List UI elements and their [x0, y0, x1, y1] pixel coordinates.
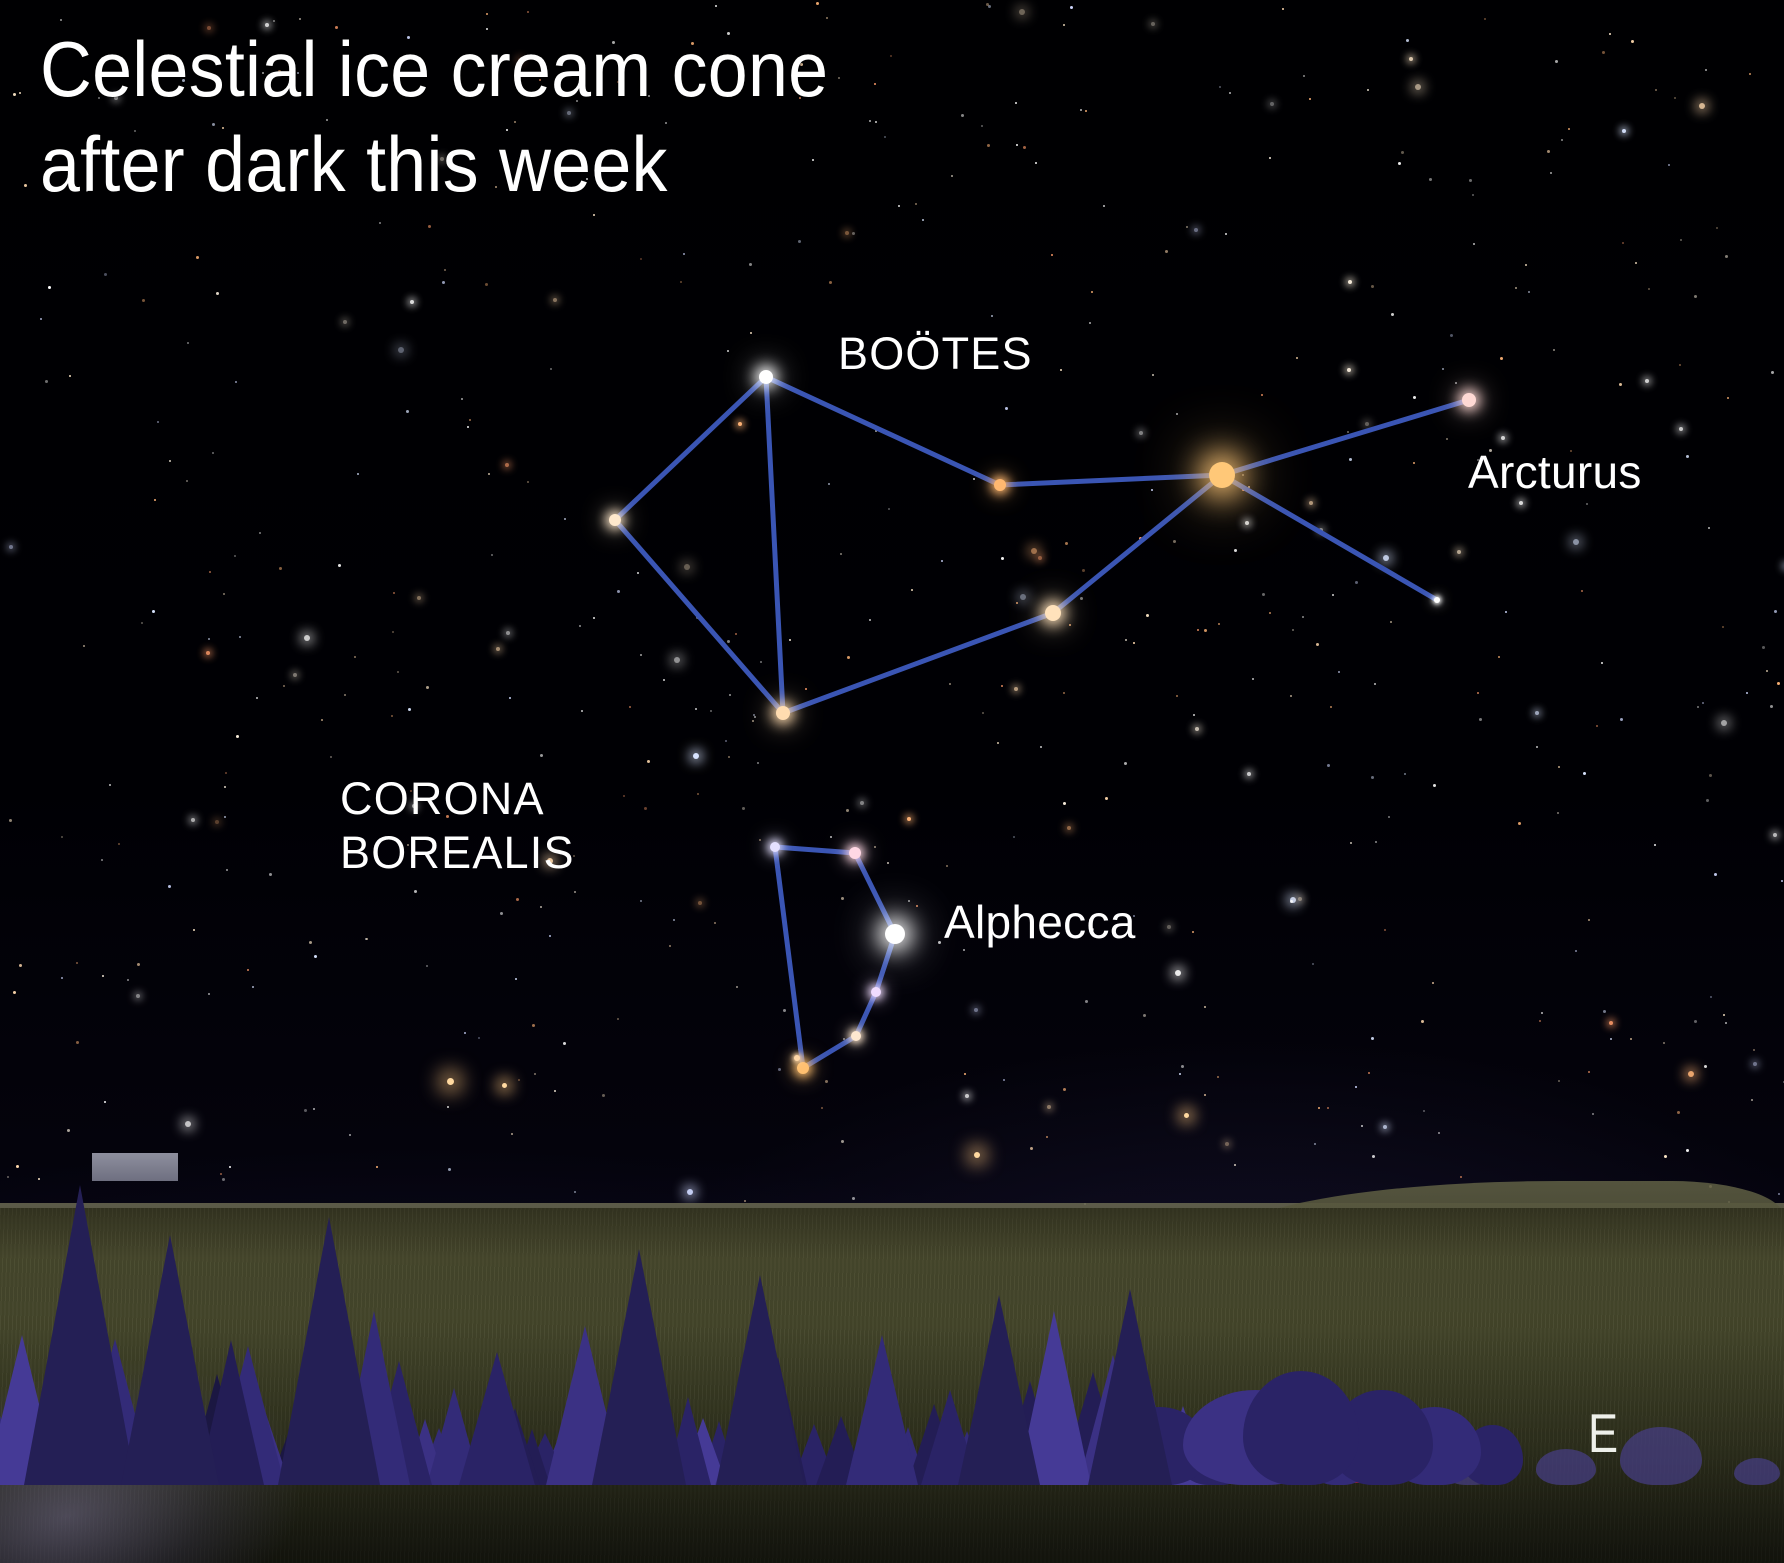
- conifer-tree: [1088, 1289, 1172, 1485]
- conifer-tree: [278, 1217, 380, 1485]
- landscape: [0, 1123, 1784, 1563]
- compass-label-east: E: [1588, 1404, 1619, 1463]
- page-title: Celestial ice cream coneafter dark this …: [40, 22, 828, 212]
- constellation-line: [775, 847, 855, 853]
- constellation-line: [855, 853, 895, 934]
- barn-annex-building: [92, 1153, 178, 1181]
- deciduous-tree: [1734, 1458, 1780, 1485]
- star-label-arcturus: Arcturus: [1468, 448, 1642, 498]
- constellation-line: [783, 613, 1053, 713]
- star-chart-image: BOÖTESArcturusCORONABOREALISAlphecca Cel…: [0, 0, 1784, 1563]
- title-line-2: after dark this week: [40, 120, 668, 208]
- conifer-tree: [24, 1185, 136, 1485]
- constellation-line: [615, 520, 783, 713]
- conifer-tree: [121, 1235, 219, 1485]
- constellation-line: [876, 934, 895, 992]
- farm-light: [447, 1078, 454, 1085]
- conifer-tree: [459, 1352, 535, 1485]
- constellation-line: [775, 847, 803, 1068]
- farm-light: [974, 1152, 980, 1158]
- farm-light: [502, 1083, 507, 1088]
- constellation-line: [1053, 475, 1222, 613]
- constellation-label-corona-borealis-line1: CORONA: [340, 775, 545, 824]
- constellation-line: [803, 1036, 856, 1068]
- constellation-line: [766, 377, 1000, 485]
- conifer-tree: [846, 1335, 918, 1485]
- deciduous-tree: [1536, 1449, 1596, 1485]
- constellation-line: [1222, 475, 1437, 600]
- deciduous-tree: [1620, 1427, 1701, 1485]
- constellation-line: [1222, 400, 1469, 475]
- constellation-label-corona-borealis-line2: BOREALIS: [340, 829, 575, 878]
- conifer-tree: [716, 1275, 804, 1485]
- title-line-1: Celestial ice cream cone: [40, 25, 828, 113]
- conifer-tree: [592, 1249, 686, 1485]
- constellation-label-bootes: BOÖTES: [838, 330, 1033, 379]
- farm-light: [1184, 1113, 1189, 1118]
- constellation-line: [1000, 475, 1222, 485]
- constellation-line: [615, 377, 766, 520]
- conifer-tree: [958, 1295, 1040, 1485]
- constellation-line: [856, 992, 876, 1036]
- star-label-alphecca: Alphecca: [944, 898, 1136, 948]
- constellation-line: [766, 377, 783, 713]
